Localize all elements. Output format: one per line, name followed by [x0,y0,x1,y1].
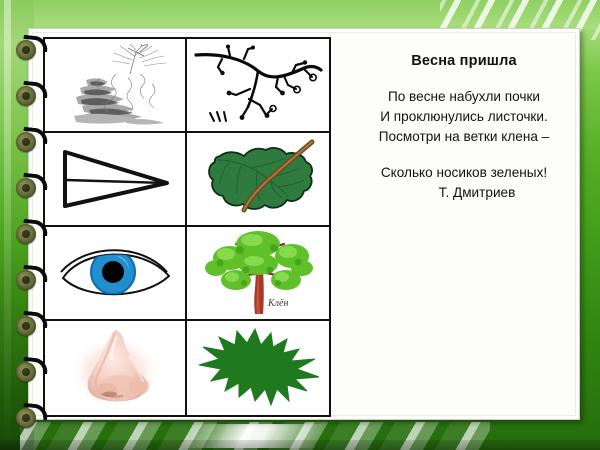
poem-title: Весна пришла [359,53,569,69]
grid-cell-green-leaf[interactable] [187,133,329,227]
binding-ring [16,358,50,384]
spiral-notebook-rings [0,0,60,450]
picture-grid: Клён [43,37,331,417]
binding-ring [16,128,50,154]
beak-triangle-outline-icon [55,144,175,214]
binding-ring [16,82,50,108]
maple-tree-caption: Клён [267,298,288,309]
grid-cell-maple-tree[interactable]: Клён [187,227,329,321]
grid-cell-eye[interactable] [45,227,187,321]
green-burst-star-icon [193,327,323,409]
grid-cell-nose[interactable] [45,321,187,415]
blue-eye-icon [55,242,175,304]
paper-sheet: Клён [28,28,580,420]
binding-ring [16,404,50,430]
spring-landscape-sketch-icon [56,44,174,126]
grid-cell-bare-branch[interactable] [187,39,329,133]
bottom-shadow-edge [0,440,600,450]
human-nose-icon [55,326,175,410]
poem-stanza-2: Сколько носиков зеленых! [359,163,569,183]
poem-stanza-1: По весне набухли почки И проклюнулись ли… [359,87,569,147]
grid-cell-green-burst[interactable] [187,321,329,415]
grid-cell-beak-triangle[interactable] [45,133,187,227]
slide-canvas: Клён [0,0,600,450]
binding-ring [16,174,50,200]
binding-ring [16,36,50,62]
poem-spacer [359,147,569,163]
grid-cell-spring-landscape[interactable] [45,39,187,133]
binding-ring [16,312,50,338]
poem-author: Т. Дмитриев [359,183,569,203]
bare-branch-with-buds-icon [192,43,324,127]
poem-panel: Весна пришла По весне набухли почки И пр… [359,53,569,203]
maple-tree-icon: Клён [196,230,320,316]
green-leaf-icon [194,138,322,220]
binding-ring [16,266,50,292]
binding-ring [16,220,50,246]
